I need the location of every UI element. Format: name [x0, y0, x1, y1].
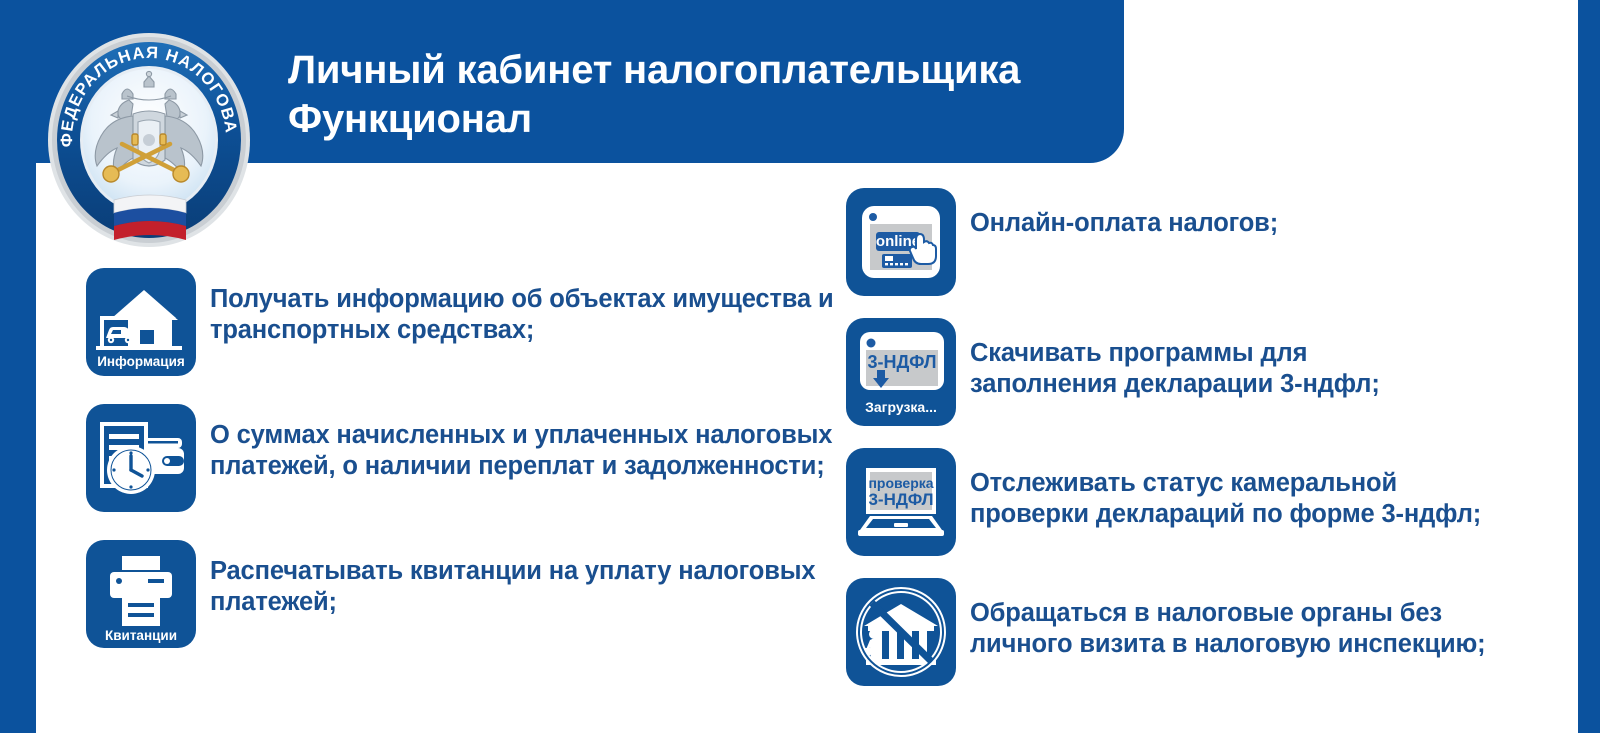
- right-blue-border: [1578, 0, 1600, 733]
- feature-item: 3-НДФЛ Загрузка... Скачивать программы д…: [846, 318, 1546, 426]
- feature-item: Обращаться в налоговые органы без личног…: [846, 578, 1546, 686]
- feature-text: Скачивать программы для заполнения декла…: [956, 318, 1546, 399]
- icon-caption: Квитанции: [105, 628, 177, 643]
- left-feature-column: Информация Получать информацию об объект…: [86, 268, 846, 676]
- feature-item: Информация Получать информацию об объект…: [86, 268, 846, 376]
- icon-screen-label-2: 3-НДФЛ: [868, 490, 933, 509]
- browser-online-payment-icon: online: [846, 188, 956, 296]
- feature-text: Обращаться в налоговые органы без личног…: [956, 578, 1546, 659]
- right-feature-column: online Онлай: [846, 188, 1546, 708]
- laptop-check-3ndfl-icon: проверка 3-НДФЛ: [846, 448, 956, 556]
- feature-text: Распечатывать квитанции на уплату налого…: [196, 540, 846, 617]
- slide-root: Личный кабинет налогоплательщика Функцио…: [0, 0, 1600, 733]
- icon-screen-label-1: проверка: [868, 475, 933, 491]
- house-car-icon: Информация: [86, 268, 196, 376]
- page-title: Личный кабинет налогоплательщика Функцио…: [288, 46, 1088, 144]
- feature-item: проверка 3-НДФЛ Отслеживать статус камер…: [846, 448, 1546, 556]
- fns-emblem: ФЕДЕРАЛЬНАЯ НАЛОГОВАЯ СЛУЖБА: [42, 22, 256, 262]
- feature-text: Отслеживать статус камеральной проверки …: [956, 448, 1546, 529]
- download-3ndfl-icon: 3-НДФЛ Загрузка...: [846, 318, 956, 426]
- feature-item: О суммах начисленных и уплаченных налого…: [86, 404, 846, 512]
- no-office-visit-icon: [846, 578, 956, 686]
- icon-screen-label: 3-НДФЛ: [868, 352, 937, 372]
- feature-text: Онлайн-оплата налогов;: [956, 188, 1546, 239]
- feature-text: О суммах начисленных и уплаченных налого…: [196, 404, 846, 481]
- icon-caption: Информация: [97, 354, 185, 369]
- feature-item: online Онлай: [846, 188, 1546, 296]
- document-clock-wallet-icon: [86, 404, 196, 512]
- feature-item: Квитанции Распечатывать квитанции на упл…: [86, 540, 846, 648]
- printer-icon: Квитанции: [86, 540, 196, 648]
- feature-text: Получать информацию об объектах имуществ…: [196, 268, 846, 345]
- icon-caption: Загрузка...: [865, 399, 937, 415]
